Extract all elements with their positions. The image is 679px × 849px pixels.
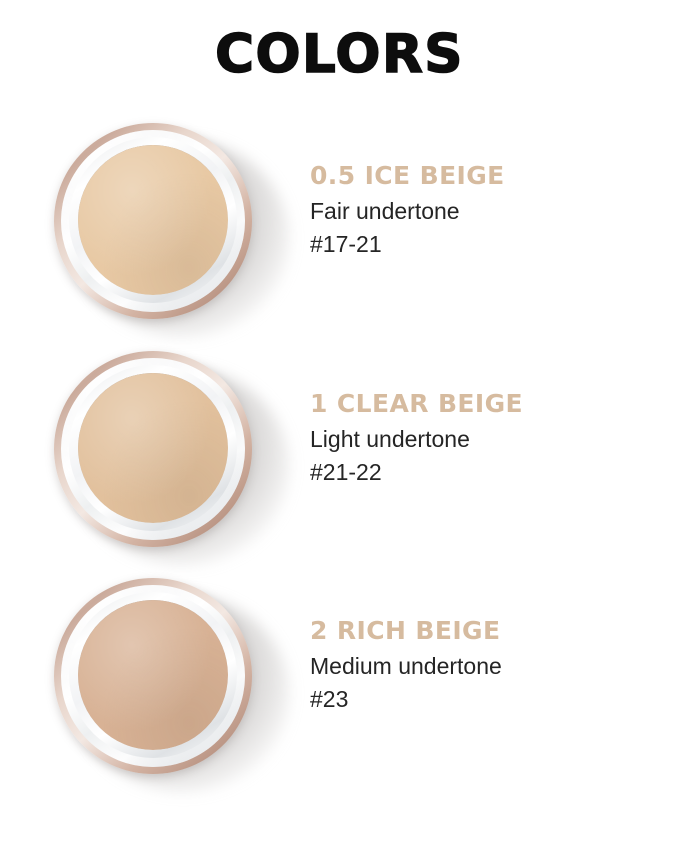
- shade-name: 2 RICH BEIGE: [310, 616, 660, 646]
- shade-name: 1 CLEAR BEIGE: [310, 389, 660, 419]
- shade-code: #17-21: [310, 228, 660, 261]
- jar-product-well: [78, 373, 228, 523]
- shade-undertone: Light undertone: [310, 423, 660, 456]
- shade-code: #21-22: [310, 456, 660, 489]
- shade-info: 0.5 ICE BEIGE Fair undertone #17-21: [310, 161, 660, 261]
- product-jar-1: [36, 339, 288, 561]
- shade-undertone: Fair undertone: [310, 195, 660, 228]
- shade-row: 1 CLEAR BEIGE Light undertone #21-22: [0, 331, 679, 561]
- shade-undertone: Medium undertone: [310, 650, 660, 683]
- product-jar-2: [36, 566, 288, 788]
- shade-swatch: [78, 600, 228, 750]
- shade-row: 2 RICH BEIGE Medium undertone #23: [0, 558, 679, 788]
- colors-chart-page: COLORS 0.5 ICE BEIGE Fair undertone #17-…: [0, 0, 679, 849]
- jar-product-well: [78, 600, 228, 750]
- product-jar-0: [36, 111, 288, 333]
- shade-info: 2 RICH BEIGE Medium undertone #23: [310, 616, 660, 716]
- shade-row: 0.5 ICE BEIGE Fair undertone #17-21: [0, 103, 679, 333]
- jar-product-well: [78, 145, 228, 295]
- shade-name: 0.5 ICE BEIGE: [310, 161, 660, 191]
- page-title: COLORS: [0, 24, 679, 86]
- shade-swatch: [78, 145, 228, 295]
- shade-info: 1 CLEAR BEIGE Light undertone #21-22: [310, 389, 660, 489]
- shade-code: #23: [310, 683, 660, 716]
- shade-swatch: [78, 373, 228, 523]
